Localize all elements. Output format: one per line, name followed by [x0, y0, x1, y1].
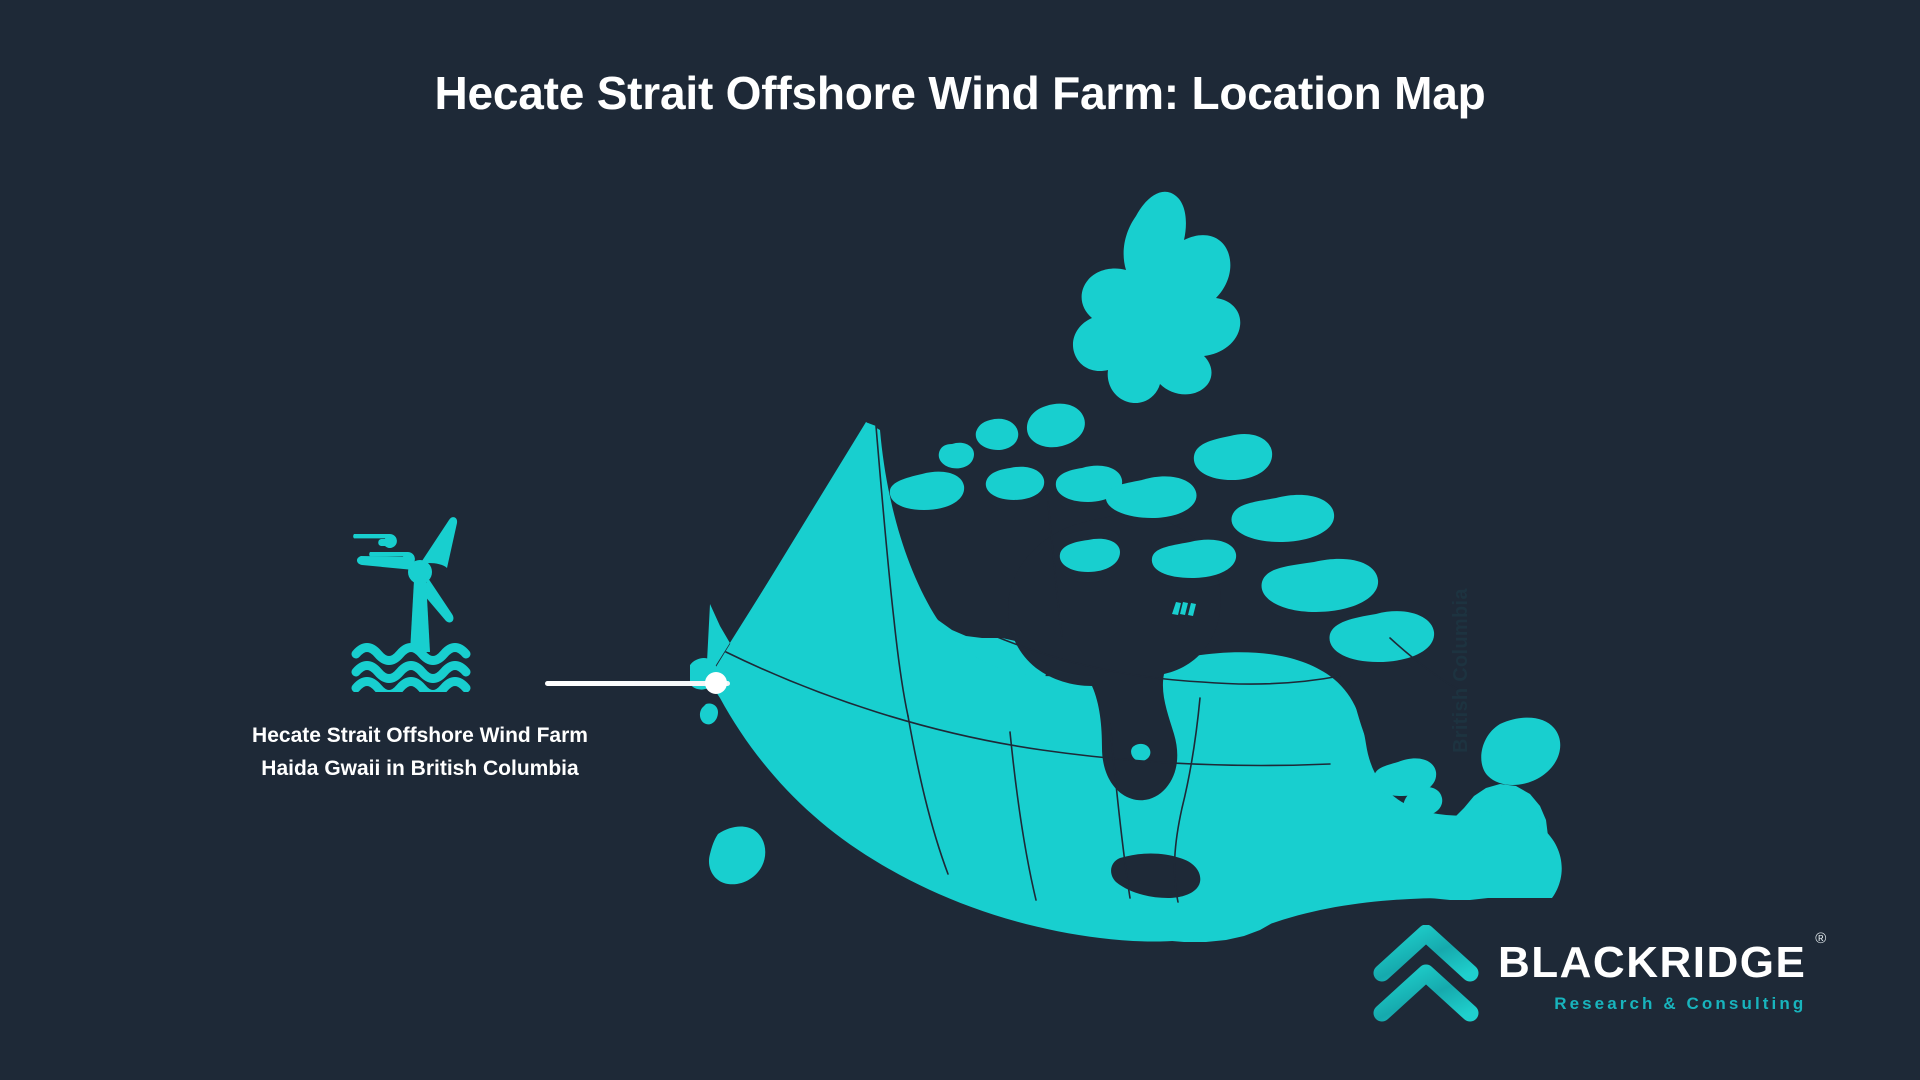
logo-wordmark: BLACKRIDGE — [1498, 941, 1806, 985]
newfoundland — [1481, 718, 1560, 785]
arctic-island-c — [939, 443, 974, 469]
slide-canvas: Hecate Strait Offshore Wind Farm: Locati… — [0, 0, 1920, 1080]
chevron-lower — [1382, 973, 1470, 1013]
page-title: Hecate Strait Offshore Wind Farm: Locati… — [0, 68, 1920, 119]
logo-tagline: Research & Consulting — [1498, 994, 1806, 1014]
offshore-wind-turbine-icon — [348, 512, 488, 692]
wave-line-1 — [356, 648, 466, 661]
baffin-island — [1262, 559, 1379, 612]
arctic-island-d — [986, 467, 1044, 500]
wind-streak-top — [353, 534, 397, 548]
blackridge-chevron-logo-icon — [1372, 925, 1480, 1025]
project-location-marker[interactable] — [705, 672, 727, 694]
banks-island — [890, 472, 964, 510]
ellesmere-baffin-mass — [1073, 192, 1240, 403]
blackridge-logo[interactable]: BLACKRIDGE ® Research & Consulting — [1372, 925, 1806, 1025]
hudson-bay-islands — [1172, 602, 1196, 616]
callout-leader-line — [545, 681, 730, 686]
canada-map[interactable]: British Columbia — [690, 168, 1630, 958]
turbine-blade-upper — [420, 517, 457, 568]
logo-text-block: BLACKRIDGE ® Research & Consulting — [1498, 937, 1806, 1014]
callout-caption: Hecate Strait Offshore Wind Farm Haida G… — [130, 720, 710, 785]
arctic-island-k — [1329, 611, 1434, 662]
arctic-island-b — [976, 419, 1019, 450]
canada-map-svg — [690, 168, 1630, 958]
arctic-island-h — [1231, 495, 1334, 542]
wave-line-3 — [356, 682, 466, 693]
vancouver-island — [709, 827, 765, 885]
offshore-wind-turbine-svg — [348, 512, 488, 692]
registered-trademark-icon: ® — [1815, 931, 1826, 946]
arctic-island-a — [1027, 404, 1085, 448]
arctic-island-g — [1194, 434, 1272, 480]
map-landmass — [690, 192, 1562, 942]
wave-line-2 — [356, 666, 466, 679]
callout-caption-line-2: Haida Gwaii in British Columbia — [130, 753, 710, 786]
turbine-blade-left — [357, 556, 414, 570]
callout-caption-line-1: Hecate Strait Offshore Wind Farm — [130, 720, 710, 753]
chevron-logo-svg — [1372, 925, 1480, 1025]
